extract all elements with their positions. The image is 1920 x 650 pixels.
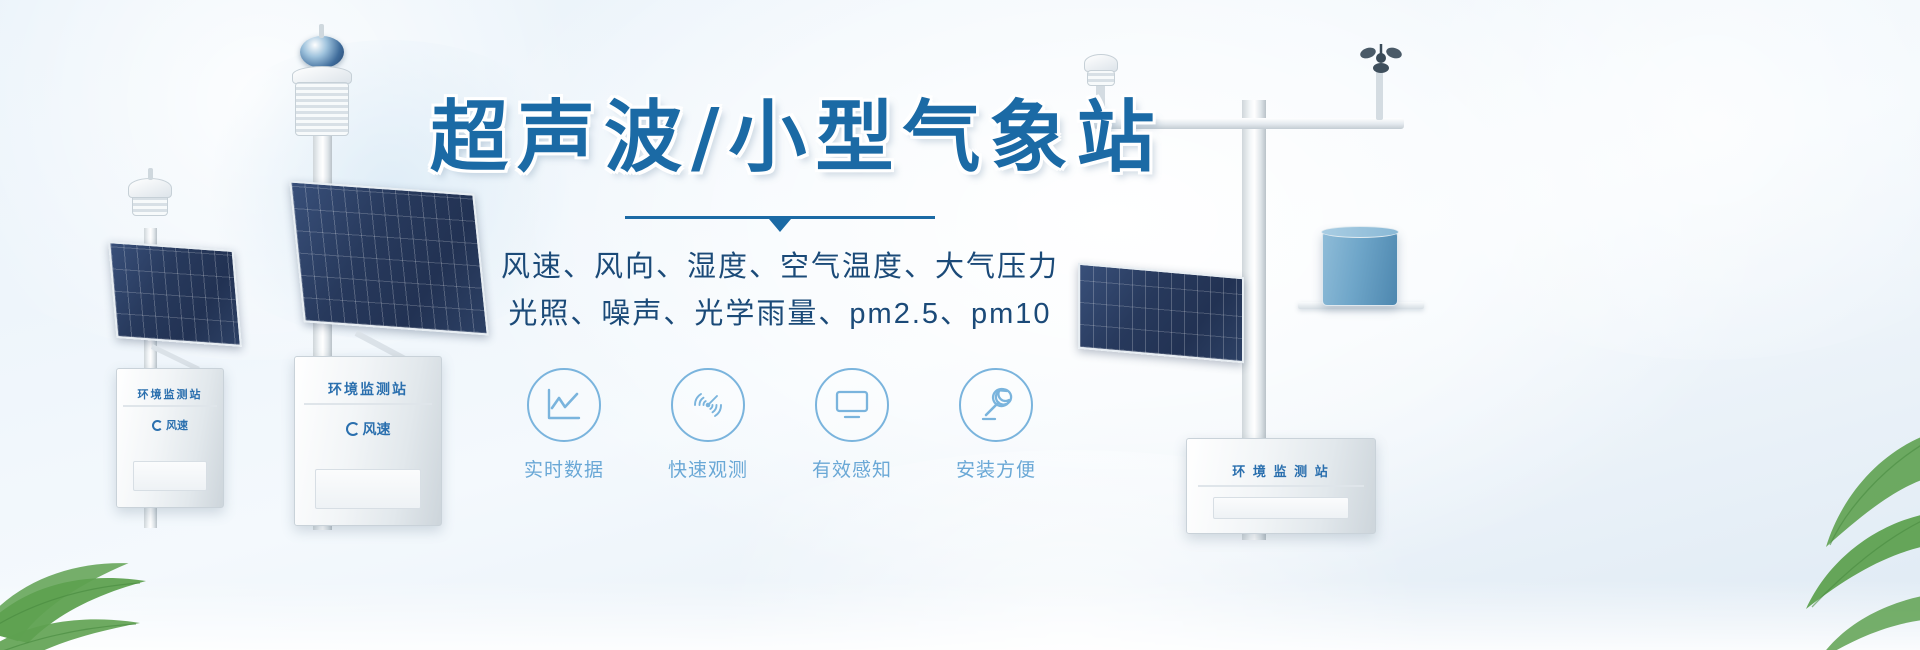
feature-item-effective-sensing[interactable]: 有效感知 — [810, 368, 894, 482]
bottom-fade — [0, 580, 1920, 650]
cup-anemometer-icon-right — [1352, 40, 1410, 74]
brand-text-middle: 风速 — [363, 419, 391, 439]
feature-label: 安装方便 — [954, 455, 1038, 482]
feature-icon-circle — [527, 368, 601, 442]
subtitle-line-1: 风速、风向、湿度、空气温度、大气压力 — [430, 244, 1130, 291]
feature-label: 有效感知 — [810, 455, 894, 482]
monitor-icon — [832, 388, 872, 422]
cabinet-brand-middle: 风速 — [295, 419, 441, 439]
cabinet-label-left: 环境监测站 — [117, 386, 223, 402]
down-triangle-icon — [769, 219, 791, 232]
line-chart-icon — [545, 388, 583, 422]
cabinet-vent-right — [1213, 497, 1349, 519]
page-title: 超声波/小型气象站 — [430, 95, 1130, 182]
banner-content: 超声波/小型气象站 风速、风向、湿度、空气温度、大气压力 光照、噪声、光学雨量、… — [430, 95, 1130, 495]
cabinet-vent-left — [133, 461, 207, 491]
feature-list: 实时数据 — [430, 368, 1130, 482]
feature-icon-circle — [671, 368, 745, 442]
cabinet-left: 环境监测站 风速 — [116, 368, 224, 508]
sensor-mast-left — [148, 168, 153, 180]
sensor-cap-left — [128, 178, 172, 198]
divider — [625, 212, 935, 228]
subtitle-line-2: 光照、噪声、光学雨量、pm2.5、pm10 — [430, 291, 1130, 338]
brand-mark-icon-left — [152, 420, 163, 431]
ultrasonic-dome-middle — [300, 36, 344, 68]
feature-item-realtime-data[interactable]: 实时数据 — [522, 368, 606, 482]
cabinet-brand-left: 风速 — [117, 417, 223, 433]
product-banner: 环境监测站 风速 环境监测站 风速 — [0, 0, 1920, 650]
brand-mark-icon-middle — [346, 422, 360, 436]
cabinet-right: 环 境 监 测 站 — [1186, 438, 1376, 534]
feature-item-easy-installation[interactable]: 安装方便 — [954, 368, 1038, 482]
rain-gauge-right — [1322, 230, 1398, 306]
cabinet-vent-middle — [315, 469, 421, 509]
feature-label: 实时数据 — [522, 455, 606, 482]
feature-icon-circle — [959, 368, 1033, 442]
feature-label: 快速观测 — [666, 455, 750, 482]
solar-panel-left — [108, 241, 242, 347]
radar-wave-icon — [688, 385, 728, 425]
ultrasonic-body-right — [1087, 70, 1115, 86]
cabinet-label-middle: 环境监测站 — [295, 379, 441, 399]
wrench-icon — [976, 386, 1016, 424]
cabinet-middle: 环境监测站 风速 — [294, 356, 442, 526]
dome-mast-middle — [319, 24, 324, 38]
feature-icon-circle — [815, 368, 889, 442]
radiation-shield-middle — [295, 82, 349, 136]
feature-item-fast-observation[interactable]: 快速观测 — [666, 368, 750, 482]
cabinet-label-right: 环 境 监 测 站 — [1187, 461, 1375, 480]
brand-text-left: 风速 — [166, 417, 188, 433]
anemometer-mast-right — [1376, 66, 1383, 120]
